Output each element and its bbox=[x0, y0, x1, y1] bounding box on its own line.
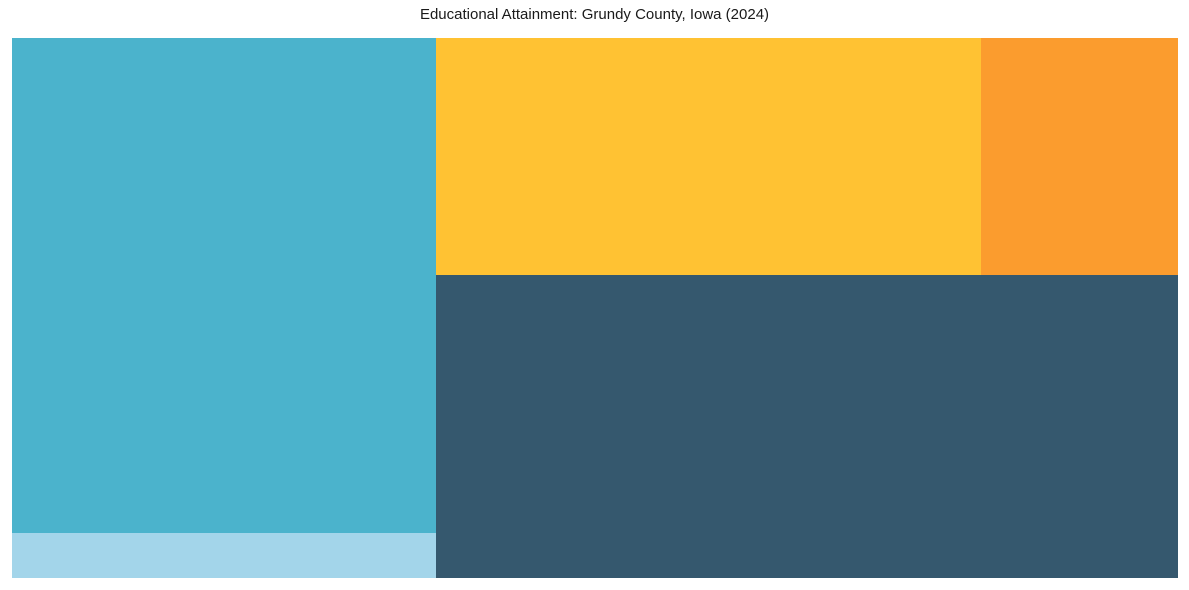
treemap-tile-label: Bachelor's degree bbox=[444, 281, 548, 296]
treemap-tile-label: Some college, no degree bbox=[444, 44, 589, 59]
treemap-tile-label: Graduate or professional degree bbox=[20, 539, 207, 554]
treemap-tile[interactable]: Some college, no degree bbox=[436, 38, 981, 275]
treemap-tile[interactable]: Associate's degree bbox=[981, 38, 1178, 275]
treemap-tile[interactable]: Graduate or professional degree bbox=[12, 533, 436, 578]
treemap-tile[interactable]: High school graduate bbox=[12, 38, 436, 533]
treemap-tile[interactable]: Bachelor's degree bbox=[436, 275, 1178, 578]
treemap-tile-label: Associate's degree bbox=[989, 44, 1098, 59]
treemap-plot-area: High school graduateSome college, no deg… bbox=[0, 0, 1189, 590]
treemap-figure: Educational Attainment: Grundy County, I… bbox=[0, 0, 1189, 590]
treemap-tile-label: High school graduate bbox=[20, 44, 143, 59]
